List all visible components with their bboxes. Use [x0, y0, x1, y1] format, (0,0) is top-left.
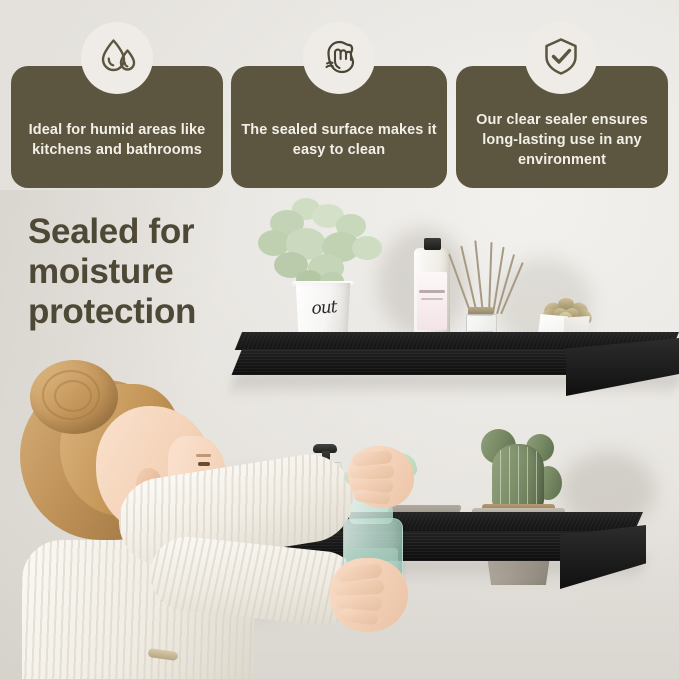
headline-line-1: Sealed for [28, 212, 258, 252]
water-drop-icon [94, 33, 140, 84]
headline-line-2: moisture [28, 252, 258, 292]
shield-check-icon [538, 33, 584, 84]
child-hand-upper [348, 446, 414, 508]
page-title: Sealed for moisture protection [28, 212, 258, 332]
child-eye [198, 462, 210, 466]
glass-bottle-cap [424, 238, 441, 250]
feature-badge-easy-to-clean [303, 22, 375, 94]
potted-greenery-foliage [252, 196, 392, 292]
feature-badge-clear-sealer [525, 22, 597, 94]
feature-card-text: Our clear sealer ensures long-lasting us… [456, 84, 668, 170]
child-hair-bun [30, 360, 118, 434]
feature-card-row: Ideal for humid areas like kitchens and … [0, 0, 679, 192]
wiping-hand-icon [315, 32, 363, 85]
child-eyebrow [196, 454, 211, 457]
bottle-label-text-line [421, 298, 443, 300]
headline-line-3: protection [28, 292, 258, 332]
child-hand-lower [330, 558, 408, 632]
feature-badge-humid-areas [81, 22, 153, 94]
cactus-body [492, 444, 544, 510]
feature-card-text: The sealed surface makes it easy to clea… [231, 94, 447, 160]
glass-bottle-label [417, 272, 447, 330]
bottle-label-text-line [419, 290, 445, 293]
feature-card-text: Ideal for humid areas like kitchens and … [11, 94, 223, 160]
pot-script-text: out [299, 296, 348, 319]
product-infographic: out [0, 0, 679, 679]
